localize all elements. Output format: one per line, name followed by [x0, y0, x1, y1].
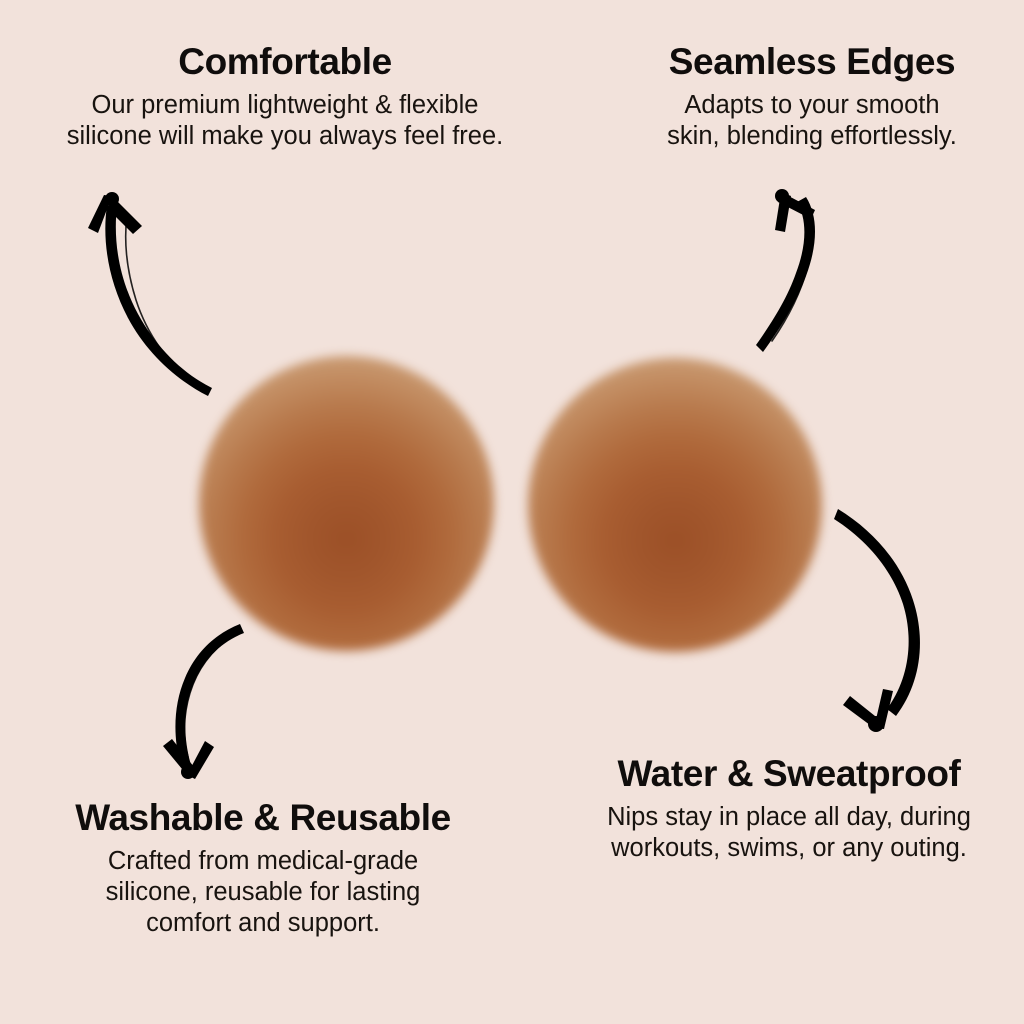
- feature-washable-reusable-description-line-2: silicone, reusable for lasting: [8, 877, 518, 908]
- feature-washable-reusable: Washable & Reusable Crafted from medical…: [8, 796, 518, 939]
- arrow-to-seamless-edges-icon: [756, 189, 815, 352]
- feature-water-sweatproof: Water & Sweatproof Nips stay in place al…: [548, 752, 1024, 864]
- feature-comfortable-title: Comfortable: [0, 40, 570, 84]
- feature-washable-reusable-description-line-3: comfort and support.: [8, 908, 518, 939]
- feature-comfortable-description: Our premium lightweight & flexible silic…: [0, 90, 570, 152]
- feature-washable-reusable-description-line-1: Crafted from medical-grade: [8, 846, 518, 877]
- feature-washable-reusable-title: Washable & Reusable: [8, 796, 518, 840]
- feature-seamless-edges-title: Seamless Edges: [600, 40, 1024, 84]
- arrow-to-washable-reusable-icon: [163, 624, 244, 779]
- feature-seamless-edges-description: Adapts to your smooth skin, blending eff…: [600, 90, 1024, 152]
- feature-seamless-edges-description-line-2: skin, blending effortlessly.: [600, 121, 1024, 152]
- feature-washable-reusable-description: Crafted from medical-grade silicone, reu…: [8, 846, 518, 939]
- feature-water-sweatproof-title: Water & Sweatproof: [548, 752, 1024, 796]
- feature-comfortable-description-line-1: Our premium lightweight & flexible: [0, 90, 570, 121]
- feature-seamless-edges-description-line-1: Adapts to your smooth: [600, 90, 1024, 121]
- feature-comfortable-description-line-2: silicone will make you always feel free.: [0, 121, 570, 152]
- feature-water-sweatproof-description: Nips stay in place all day, during worko…: [548, 802, 1024, 864]
- feature-comfortable: Comfortable Our premium lightweight & fl…: [0, 40, 570, 152]
- arrow-to-water-sweatproof-icon: [834, 509, 920, 732]
- feature-seamless-edges: Seamless Edges Adapts to your smooth ski…: [600, 40, 1024, 152]
- arrow-to-comfortable-icon: [88, 192, 212, 396]
- feature-water-sweatproof-description-line-2: workouts, swims, or any outing.: [548, 833, 1024, 864]
- infographic-canvas: Comfortable Our premium lightweight & fl…: [0, 0, 1024, 1024]
- feature-water-sweatproof-description-line-1: Nips stay in place all day, during: [548, 802, 1024, 833]
